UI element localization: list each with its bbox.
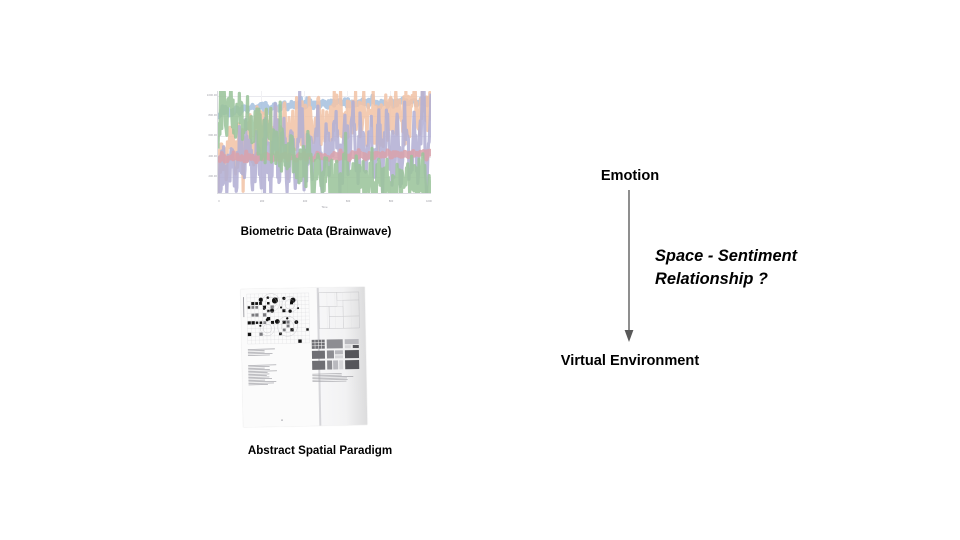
- chart-ytick-label: 1000.00: [196, 94, 217, 97]
- emotion-node-label: Emotion: [530, 168, 730, 184]
- relationship-question-line-1: Space - Sentiment: [655, 245, 885, 268]
- chart-xtick-label: 0: [218, 200, 219, 203]
- relationship-diagram: Emotion Space - Sentiment Relationship ?…: [500, 150, 900, 400]
- paradigm-figure-caption: Abstract Spatial Paradigm: [230, 444, 410, 457]
- chart-plot-area: [218, 91, 431, 194]
- slide-canvas: 1000.00 800.00 600.00 400.00 200.00 0 20…: [0, 0, 960, 540]
- chart-ytick-label: 600.00: [196, 134, 217, 137]
- chart-xtick-label: 800: [389, 200, 393, 203]
- chart-ytick-label: 800.00: [196, 114, 217, 117]
- virtual-environment-node-label: Virtual Environment: [511, 353, 749, 369]
- chart-y-axis: [217, 91, 218, 194]
- chart-xtick-label: 400: [303, 200, 307, 203]
- chart-xtick-label: 600: [346, 200, 350, 203]
- brainwave-figure-caption: Biometric Data (Brainwave): [196, 225, 436, 238]
- relationship-question-line-2: Relationship ?: [655, 268, 885, 291]
- chart-xtick-label: 200: [260, 200, 264, 203]
- downward-arrow-icon: [600, 190, 660, 350]
- book-diagram-layer: [241, 287, 368, 427]
- chart-xaxis-label: Time: [218, 205, 431, 209]
- book-spread-photo: [241, 287, 368, 427]
- chart-ytick-label: 200.00: [196, 175, 217, 178]
- chart-series-layer: [218, 91, 431, 194]
- paradigm-figure: Abstract Spatial Paradigm: [230, 286, 410, 472]
- relationship-question-text: Space - Sentiment Relationship ?: [655, 245, 885, 290]
- brainwave-figure: 1000.00 800.00 600.00 400.00 200.00 0 20…: [196, 88, 436, 248]
- brainwave-line-chart: 1000.00 800.00 600.00 400.00 200.00 0 20…: [196, 88, 434, 210]
- chart-ytick-label: 400.00: [196, 155, 217, 158]
- chart-xtick-label: 1000: [426, 200, 432, 203]
- chart-x-axis: [217, 193, 431, 194]
